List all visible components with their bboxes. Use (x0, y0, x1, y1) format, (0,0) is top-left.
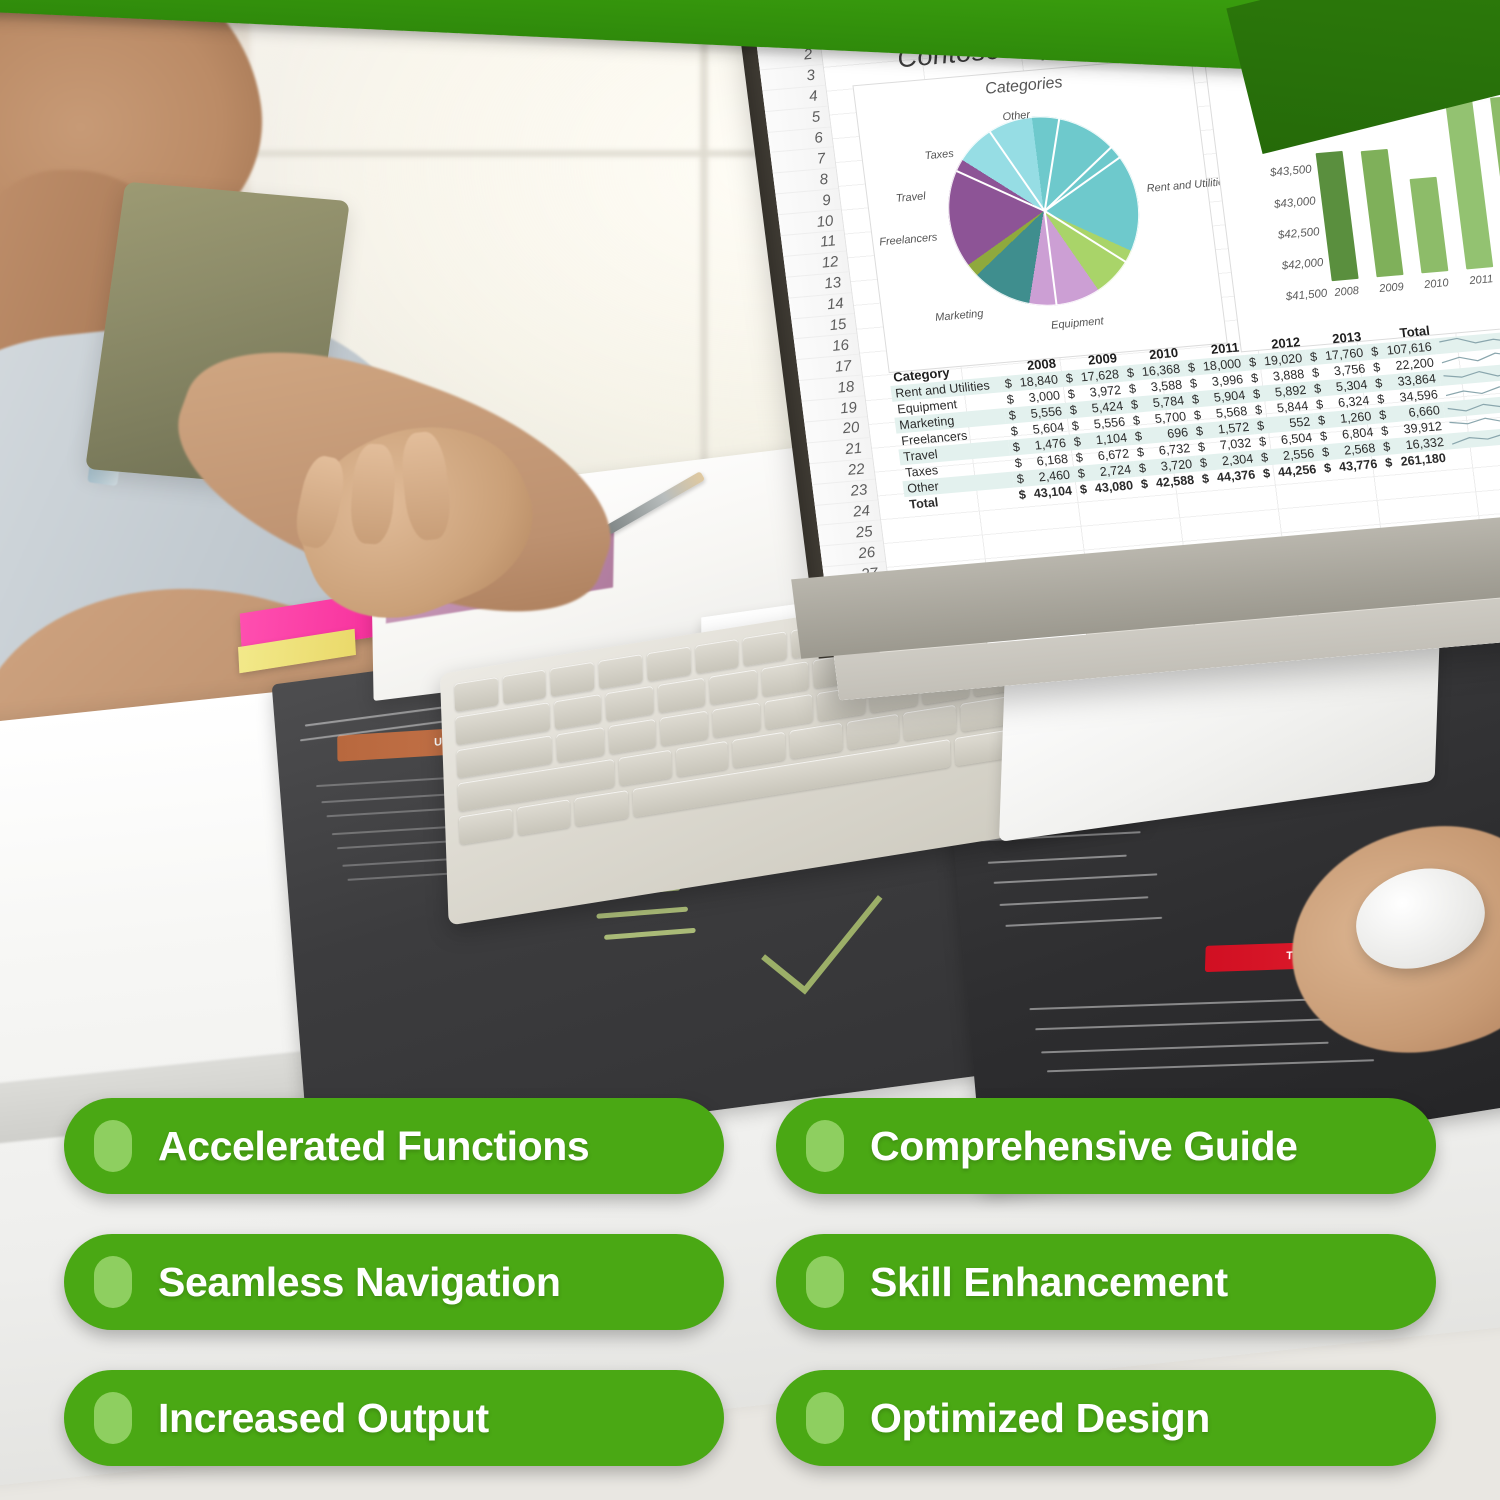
scene: UNDERSTANDING COMMON ERRORS (0, 0, 1500, 1500)
feature-pill-accelerated-functions[interactable]: Accelerated Functions (64, 1098, 724, 1194)
feature-label: Comprehensive Guide (870, 1123, 1298, 1170)
feature-label: Seamless Navigation (158, 1259, 561, 1306)
feature-pill-optimized-design[interactable]: Optimized Design (776, 1370, 1436, 1466)
bar-label: 2011 (1469, 273, 1494, 287)
feature-pill-skill-enhancement[interactable]: Skill Enhancement (776, 1234, 1436, 1330)
y-tick: $43,500 (1225, 164, 1312, 183)
pie-label-rent-and-utilities: Rent and Utilities (1146, 178, 1207, 196)
bar-2010 (1410, 177, 1449, 274)
bar-2009 (1361, 149, 1404, 277)
feature-label: Skill Enhancement (870, 1259, 1228, 1306)
pie-label-travel: Travel (895, 190, 926, 205)
feature-pill-increased-output[interactable]: Increased Output (64, 1370, 724, 1466)
categories-pie-chart[interactable]: Categories Rent and Utilities Equipment (852, 56, 1227, 373)
mat-text-line (1047, 1059, 1374, 1072)
feature-pill-grid: Accelerated Functions Comprehensive Guid… (0, 1098, 1500, 1466)
bar-label: 2010 (1423, 277, 1449, 291)
y-tick: $42,000 (1237, 257, 1324, 276)
pie-graphic (937, 109, 1150, 314)
feature-label: Increased Output (158, 1395, 489, 1442)
bullet-icon (94, 1120, 132, 1172)
bar-2012 (1490, 95, 1500, 266)
bullet-icon (94, 1392, 132, 1444)
bar-label: 2008 (1334, 285, 1360, 299)
bullet-icon (806, 1256, 844, 1308)
feature-pill-seamless-navigation[interactable]: Seamless Navigation (64, 1234, 724, 1330)
pie-label-freelancers: Freelancers (879, 232, 938, 250)
feature-label: Optimized Design (870, 1395, 1210, 1442)
y-tick: $41,500 (1241, 288, 1328, 307)
bar-2011 (1444, 92, 1493, 269)
pie-label-marketing: Marketing (934, 308, 984, 325)
pie-label-other: Other (1002, 109, 1031, 124)
y-tick: $43,000 (1229, 195, 1316, 214)
bullet-icon (806, 1120, 844, 1172)
feature-pill-comprehensive-guide[interactable]: Comprehensive Guide (776, 1098, 1436, 1194)
bullet-icon (94, 1256, 132, 1308)
pie-label-equipment: Equipment (1050, 315, 1104, 332)
y-tick: $42,500 (1233, 226, 1320, 245)
bullet-icon (806, 1392, 844, 1444)
bar-label: 2009 (1379, 281, 1405, 295)
pie-label-taxes: Taxes (924, 148, 954, 163)
feature-label: Accelerated Functions (158, 1123, 589, 1170)
